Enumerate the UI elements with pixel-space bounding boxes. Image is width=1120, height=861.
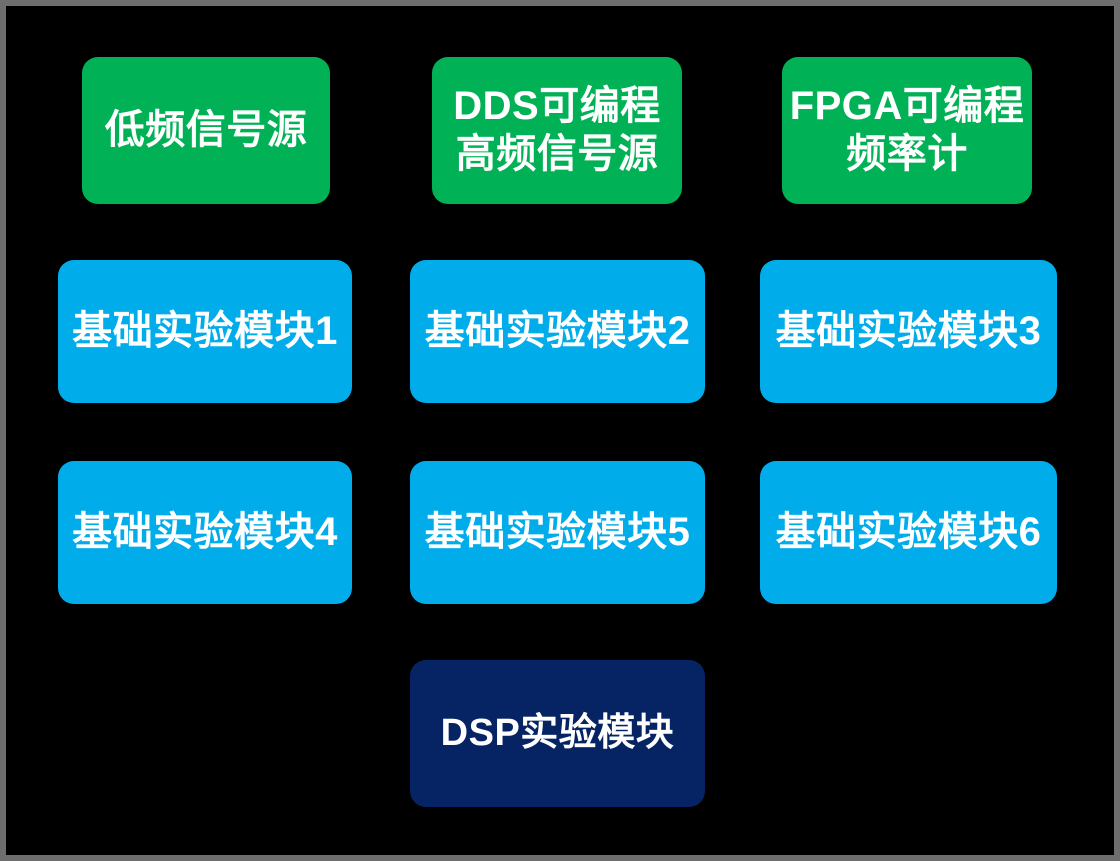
diagram-canvas: 低频信号源 DDS可编程 高频信号源 FPGA可编程 频率计 基础实验模块1 基… [0,0,1120,861]
node-dds-programmable-hf-signal-source[interactable]: DDS可编程 高频信号源 [432,57,682,204]
node-label: 基础实验模块3 [760,308,1057,355]
node-basic-experiment-module-5[interactable]: 基础实验模块5 [410,461,705,604]
node-basic-experiment-module-1[interactable]: 基础实验模块1 [58,260,352,403]
node-basic-experiment-module-3[interactable]: 基础实验模块3 [760,260,1057,403]
node-label: 基础实验模块2 [410,308,705,355]
node-basic-experiment-module-6[interactable]: 基础实验模块6 [760,461,1057,604]
node-label: FPGA可编程 频率计 [782,83,1032,177]
node-label: 低频信号源 [82,107,330,154]
node-low-frequency-signal-source[interactable]: 低频信号源 [82,57,330,204]
node-basic-experiment-module-4[interactable]: 基础实验模块4 [58,461,352,604]
node-label: 基础实验模块4 [58,509,352,556]
node-label: DDS可编程 高频信号源 [432,83,682,177]
node-label: 基础实验模块6 [760,509,1057,556]
node-dsp-experiment-module[interactable]: DSP实验模块 [410,660,705,807]
node-basic-experiment-module-2[interactable]: 基础实验模块2 [410,260,705,403]
node-label: 基础实验模块5 [410,509,705,556]
node-label: DSP实验模块 [410,711,705,756]
node-label: 基础实验模块1 [58,308,352,355]
node-fpga-programmable-frequency-counter[interactable]: FPGA可编程 频率计 [782,57,1032,204]
